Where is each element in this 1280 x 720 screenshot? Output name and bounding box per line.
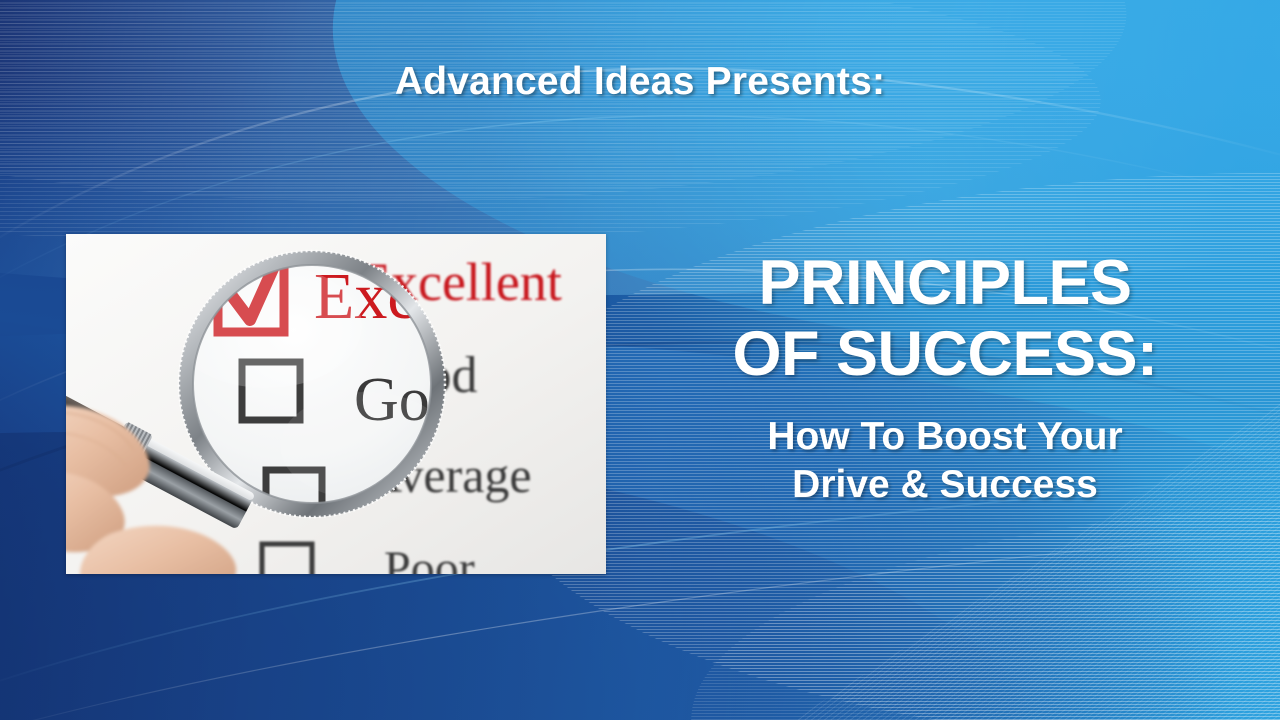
subtitle-line-2: Drive & Success (636, 461, 1254, 509)
presentation-slide: Advanced Ideas Presents: (0, 0, 1280, 720)
main-title-line-2: OF SUCCESS: (636, 319, 1254, 390)
survey-option-label-poor: Poor (384, 542, 475, 574)
slide-main-title: PRINCIPLES OF SUCCESS: (636, 248, 1254, 389)
content-image-magnifier-survey: Excellent Good Average Poor Excellent (66, 234, 606, 574)
magnifier-survey-illustration: Excellent Good Average Poor Excellent (66, 234, 606, 574)
slide-subtitle: How To Boost Your Drive & Success (636, 413, 1254, 508)
main-title-line-1: PRINCIPLES (636, 248, 1254, 319)
slide-header-text: Advanced Ideas Presents: (0, 60, 1280, 104)
subtitle-line-1: How To Boost Your (636, 413, 1254, 461)
title-block: PRINCIPLES OF SUCCESS: How To Boost Your… (636, 248, 1254, 508)
